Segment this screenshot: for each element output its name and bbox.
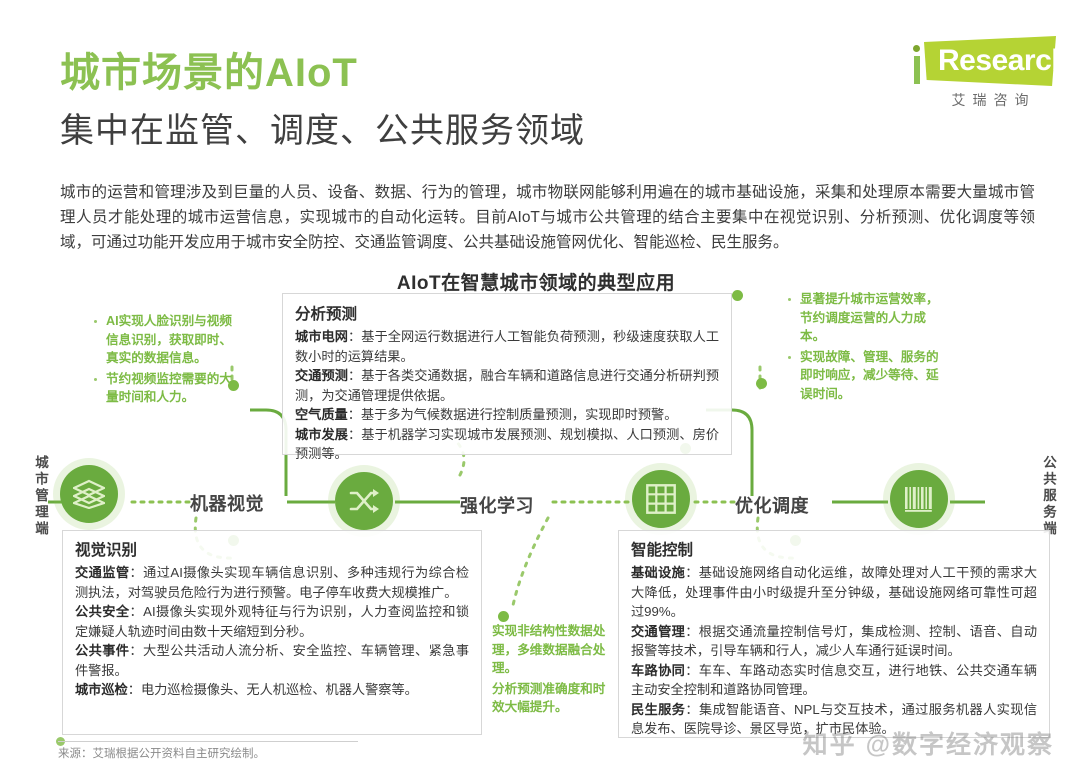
- desc: 根据交通流量控制信号灯，集成检测、控制、语音、自动报警等技术，引导车辆和行人，减…: [631, 624, 1037, 659]
- node-label-reinforcement-learning: 强化学习: [460, 492, 534, 518]
- desc: 车车、车路动态实时信息交互，进行地铁、公共交通车辆主动安全控制和道路协同管理。: [631, 663, 1037, 698]
- logo-i-bar-icon: [914, 56, 920, 84]
- barcode-icon: [904, 485, 934, 513]
- grid-icon: [646, 484, 676, 514]
- page-title: 城市场景的AIoT: [60, 52, 358, 94]
- box-vision-item: 公共事件：大型公共活动人流分析、安全监控、车辆管理、紧急事件警报。: [75, 641, 469, 680]
- box-control-item: 车路协同：车车、车路动态实时信息交互，进行地铁、公共交通车辆主动安全控制和道路协…: [631, 661, 1037, 700]
- term: 公共事件: [75, 643, 129, 658]
- callout-item: 实现非结构性数据处理，多维数据融合处理。: [492, 622, 612, 678]
- term: 基础设施: [631, 565, 685, 580]
- box-vision-heading: 视觉识别: [75, 538, 469, 560]
- box-control-item: 基础设施：基础设施网络自动化运维，故障处理对人工干预的需求大大降低，处理事件由小…: [631, 563, 1037, 622]
- term: 民生服务: [631, 702, 685, 717]
- page-subtitle: 集中在监管、调度、公共服务领域: [60, 112, 585, 151]
- term: 交通管理: [631, 624, 685, 639]
- box-analysis-item: 空气质量：基于多为气候数据进行控制质量预测，实现即时预警。: [295, 405, 719, 425]
- box-intelligent-control: 智能控制 基础设施：基础设施网络自动化运维，故障处理对人工干预的需求大大降低，处…: [618, 530, 1050, 738]
- term: 城市电网: [295, 329, 348, 344]
- node-barcode[interactable]: [890, 470, 948, 528]
- layers-icon: [73, 479, 105, 509]
- callout-item: 实现故障、管理、服务的即时响应，减少等待、延误时间。: [786, 348, 946, 404]
- callout-item: AI实现人脸识别与视频信息识别，获取即时、真实的数据信息。: [92, 312, 237, 368]
- iresearch-logo: Research 艾瑞咨询: [906, 36, 1056, 114]
- callout-item: 节约视频监控需要的大量时间和人力。: [92, 370, 237, 407]
- box-analysis-item: 城市电网：基于全网运行数据进行人工智能负荷预测，秒级速度获取人工数小时的运算结果…: [295, 327, 719, 366]
- desc: 电力巡检摄像头、无人机巡检、机器人警察等。: [141, 682, 418, 697]
- desc: AI摄像头实现外观特征与行为识别，人力查阅监控和锁定嫌疑人轨迹时间由数十天缩短到…: [75, 604, 469, 639]
- source-divider: [58, 741, 358, 742]
- logo-wordmark: Research: [938, 44, 1069, 78]
- intro-paragraph: 城市的运营和管理涉及到巨量的人员、设备、数据、行为的管理，城市物联网能够利用遍在…: [60, 180, 1035, 255]
- connector-dot-analysis-top: [732, 290, 743, 301]
- logo-chinese-name: 艾瑞咨询: [924, 90, 1056, 110]
- shuffle-icon: [349, 488, 379, 514]
- box-analysis-item: 交通预测：基于各类交通数据，融合车辆和道路信息进行交通分析研判预测，为交通管理提…: [295, 366, 719, 405]
- box-vision-item: 城市巡检：电力巡检摄像头、无人机巡检、机器人警察等。: [75, 680, 469, 700]
- desc: 基于各类交通数据，融合车辆和道路信息进行交通分析研判预测，为交通管理提供依据。: [295, 368, 719, 403]
- node-layers[interactable]: [60, 465, 118, 523]
- box-control-item: 交通管理：根据交通流量控制信号灯，集成检测、控制、语音、自动报警等技术，引导车辆…: [631, 622, 1037, 661]
- callout-item: 显著提升城市运营效率，节约调度运营的人力成本。: [786, 290, 946, 346]
- node-grid[interactable]: [632, 470, 690, 528]
- callout-center-bottom: 实现非结构性数据处理，多维数据融合处理。 分析预测准确度和时效大幅提升。: [492, 622, 612, 719]
- logo-i-dot-icon: [913, 45, 920, 52]
- box-analysis-item: 城市发展：基于机器学习实现城市发展预测、规划模拟、人口预测、房价预测等。: [295, 425, 719, 464]
- source-note: 来源：艾瑞根据公开资料自主研究绘制。: [58, 745, 265, 761]
- desc: 大型公共活动人流分析、安全监控、车辆管理、紧急事件警报。: [75, 643, 469, 678]
- callout-item: 分析预测准确度和时效大幅提升。: [492, 680, 612, 717]
- box-vision-item: 公共安全：AI摄像头实现外观特征与行为识别，人力查阅监控和锁定嫌疑人轨迹时间由数…: [75, 602, 469, 641]
- term: 交通监管: [75, 565, 130, 580]
- callout-right-top: 显著提升城市运营效率，节约调度运营的人力成本。 实现故障、管理、服务的即时响应，…: [786, 290, 946, 405]
- connector-dot-right: [756, 378, 767, 389]
- box-control-heading: 智能控制: [631, 538, 1037, 560]
- watermark: 知乎 @数字经济观察: [803, 725, 1054, 761]
- box-vision-item: 交通监管：通过AI摄像头实现车辆信息识别、多种违规行为综合检测执法，对驾驶员危险…: [75, 563, 469, 602]
- desc: 通过AI摄像头实现车辆信息识别、多种违规行为综合检测执法，对驾驶员危险行为进行预…: [75, 565, 469, 600]
- desc: 基于机器学习实现城市发展预测、规划模拟、人口预测、房价预测等。: [295, 427, 719, 462]
- connector-dot-bottom-center: [498, 611, 509, 622]
- term: 交通预测: [295, 368, 348, 383]
- infographic-page: 城市场景的AIoT 集中在监管、调度、公共服务领域 城市的运营和管理涉及到巨量的…: [0, 0, 1072, 763]
- node-label-optimized-scheduling: 优化调度: [735, 492, 809, 518]
- term: 车路协同: [631, 663, 685, 678]
- box-analysis-prediction: 分析预测 城市电网：基于全网运行数据进行人工智能负荷预测，秒级速度获取人工数小时…: [282, 293, 732, 455]
- term: 公共安全: [75, 604, 130, 619]
- node-label-machine-vision: 机器视觉: [190, 490, 264, 516]
- box-visual-recognition: 视觉识别 交通监管：通过AI摄像头实现车辆信息识别、多种违规行为综合检测执法，对…: [62, 530, 482, 735]
- term: 城市巡检: [75, 682, 128, 697]
- callout-left-top: AI实现人脸识别与视频信息识别，获取即时、真实的数据信息。 节约视频监控需要的大…: [92, 312, 237, 409]
- term: 空气质量: [295, 407, 348, 422]
- desc: 基于多为气候数据进行控制质量预测，实现即时预警。: [361, 407, 678, 422]
- desc: 基础设施网络自动化运维，故障处理对人工干预的需求大大降低，处理事件由小时级提升至…: [631, 565, 1037, 619]
- node-shuffle[interactable]: [335, 472, 393, 530]
- box-analysis-heading: 分析预测: [295, 302, 719, 324]
- term: 城市发展: [295, 427, 348, 442]
- desc: 基于全网运行数据进行人工智能负荷预测，秒级速度获取人工数小时的运算结果。: [295, 329, 719, 364]
